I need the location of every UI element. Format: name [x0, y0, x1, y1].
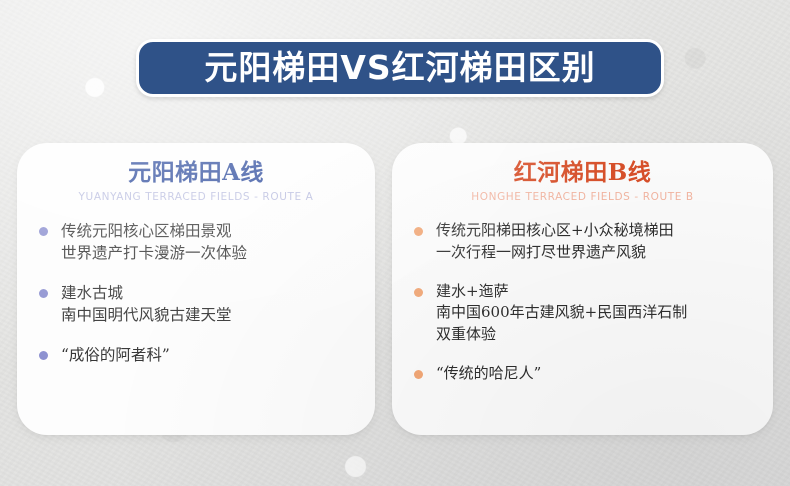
bullet-text-line: 世界遗产打卡漫游一次体验 — [61, 242, 247, 264]
bullet-text-line: “传统的哈尼人” — [436, 363, 541, 384]
poster-canvas: 元阳梯田VS红河梯田区别 元阳梯田A线 YUANYANG TERRACED FI… — [0, 0, 790, 486]
bullet-list-b: 传统元阳梯田核心区+小众秘境梯田一次行程一网打尽世界遗产风貌建水+迤萨南中国60… — [406, 220, 759, 384]
bullet-dot-icon — [39, 351, 48, 360]
bullet-item: 传统元阳梯田核心区+小众秘境梯田一次行程一网打尽世界遗产风貌 — [410, 220, 755, 263]
bullet-text-line: 建水古城 — [61, 282, 232, 304]
bullet-dot-icon — [39, 289, 48, 298]
bullet-text-line: “成俗的阿者科” — [61, 344, 170, 366]
bullet-list-a: 传统元阳核心区梯田景观世界遗产打卡漫游一次体验建水古城南中国明代风貌古建天堂“成… — [31, 220, 361, 366]
bullet-text-line: 建水+迤萨 — [436, 281, 687, 302]
route-card-a: 元阳梯田A线 YUANYANG TERRACED FIELDS - ROUTE … — [17, 143, 375, 435]
title-banner: 元阳梯田VS红河梯田区别 — [136, 39, 664, 97]
bullet-dot-icon — [414, 288, 423, 297]
bullet-text: 建水古城南中国明代风貌古建天堂 — [61, 282, 232, 326]
card-subtitle-a: YUANYANG TERRACED FIELDS - ROUTE A — [31, 191, 361, 203]
card-title-a: 元阳梯田A线 — [31, 160, 361, 186]
bullet-text: “传统的哈尼人” — [436, 363, 541, 384]
bullet-text-line: 传统元阳梯田核心区+小众秘境梯田 — [436, 220, 674, 241]
route-card-b: 红河梯田B线 HONGHE TERRACED FIELDS - ROUTE B … — [392, 143, 773, 435]
banner-title-text: 元阳梯田VS红河梯田区别 — [204, 51, 595, 84]
bullet-dot-icon — [414, 370, 423, 379]
bullet-text: 建水+迤萨南中国600年古建风貌+民国西洋石制双重体验 — [436, 281, 687, 345]
bullet-text: 传统元阳梯田核心区+小众秘境梯田一次行程一网打尽世界遗产风貌 — [436, 220, 674, 263]
bullet-item: “传统的哈尼人” — [410, 363, 755, 384]
bullet-item: 传统元阳核心区梯田景观世界遗产打卡漫游一次体验 — [35, 220, 357, 264]
card-title-b: 红河梯田B线 — [406, 160, 759, 186]
bullet-text-line: 南中国600年古建风貌+民国西洋石制 — [436, 302, 687, 323]
bullet-item: 建水+迤萨南中国600年古建风貌+民国西洋石制双重体验 — [410, 281, 755, 345]
bullet-text-line: 双重体验 — [436, 324, 687, 345]
bullet-text-line: 南中国明代风貌古建天堂 — [61, 304, 232, 326]
bullet-text: 传统元阳核心区梯田景观世界遗产打卡漫游一次体验 — [61, 220, 247, 264]
bullet-text: “成俗的阿者科” — [61, 344, 170, 366]
bullet-dot-icon — [39, 227, 48, 236]
bullet-item: 建水古城南中国明代风貌古建天堂 — [35, 282, 357, 326]
card-subtitle-b: HONGHE TERRACED FIELDS - ROUTE B — [406, 191, 759, 203]
bullet-item: “成俗的阿者科” — [35, 344, 357, 366]
bullet-dot-icon — [414, 227, 423, 236]
bullet-text-line: 一次行程一网打尽世界遗产风貌 — [436, 242, 674, 263]
bullet-text-line: 传统元阳核心区梯田景观 — [61, 220, 247, 242]
